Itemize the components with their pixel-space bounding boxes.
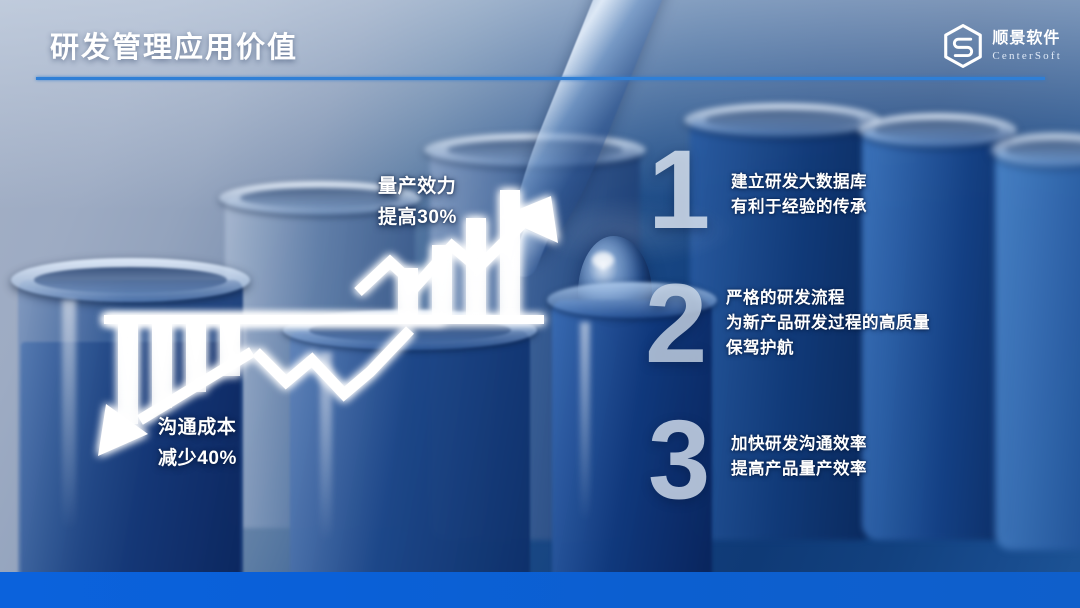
logo-company-en: CenterSoft — [992, 51, 1062, 62]
callout-rising-label: 量产效力 提高30% — [378, 172, 457, 234]
item-number-2: 2 — [645, 272, 707, 375]
page-title: 研发管理应用价值 — [50, 24, 298, 66]
item-text-1: 建立研发大数据库 有利于经验的传承 — [731, 170, 867, 220]
glass-highlight — [580, 322, 590, 522]
item-number-3: 3 — [648, 408, 710, 511]
hexagon-s-logo-icon — [943, 24, 983, 68]
glass-highlight — [320, 352, 332, 542]
item-text-3: 加快研发沟通效率 提高产品量产效率 — [731, 432, 867, 482]
glass-highlight — [62, 300, 76, 530]
logo-text-block: 顺景软件 CenterSoft — [992, 31, 1062, 62]
company-logo: 顺景软件 CenterSoft — [943, 24, 1062, 68]
item-number-1: 1 — [648, 138, 710, 241]
title-underline-divider — [36, 77, 1045, 80]
logo-company-cn: 顺景软件 — [992, 31, 1062, 47]
slide-root: 研发管理应用价值 顺景软件 CenterSoft — [0, 0, 1080, 608]
item-text-2: 严格的研发流程 为新产品研发过程的高质量 保驾护航 — [726, 286, 930, 361]
test-tube-back-e — [995, 150, 1080, 550]
callout-falling-label: 沟通成本 减少40% — [158, 413, 237, 475]
footer-bar — [0, 572, 1080, 608]
